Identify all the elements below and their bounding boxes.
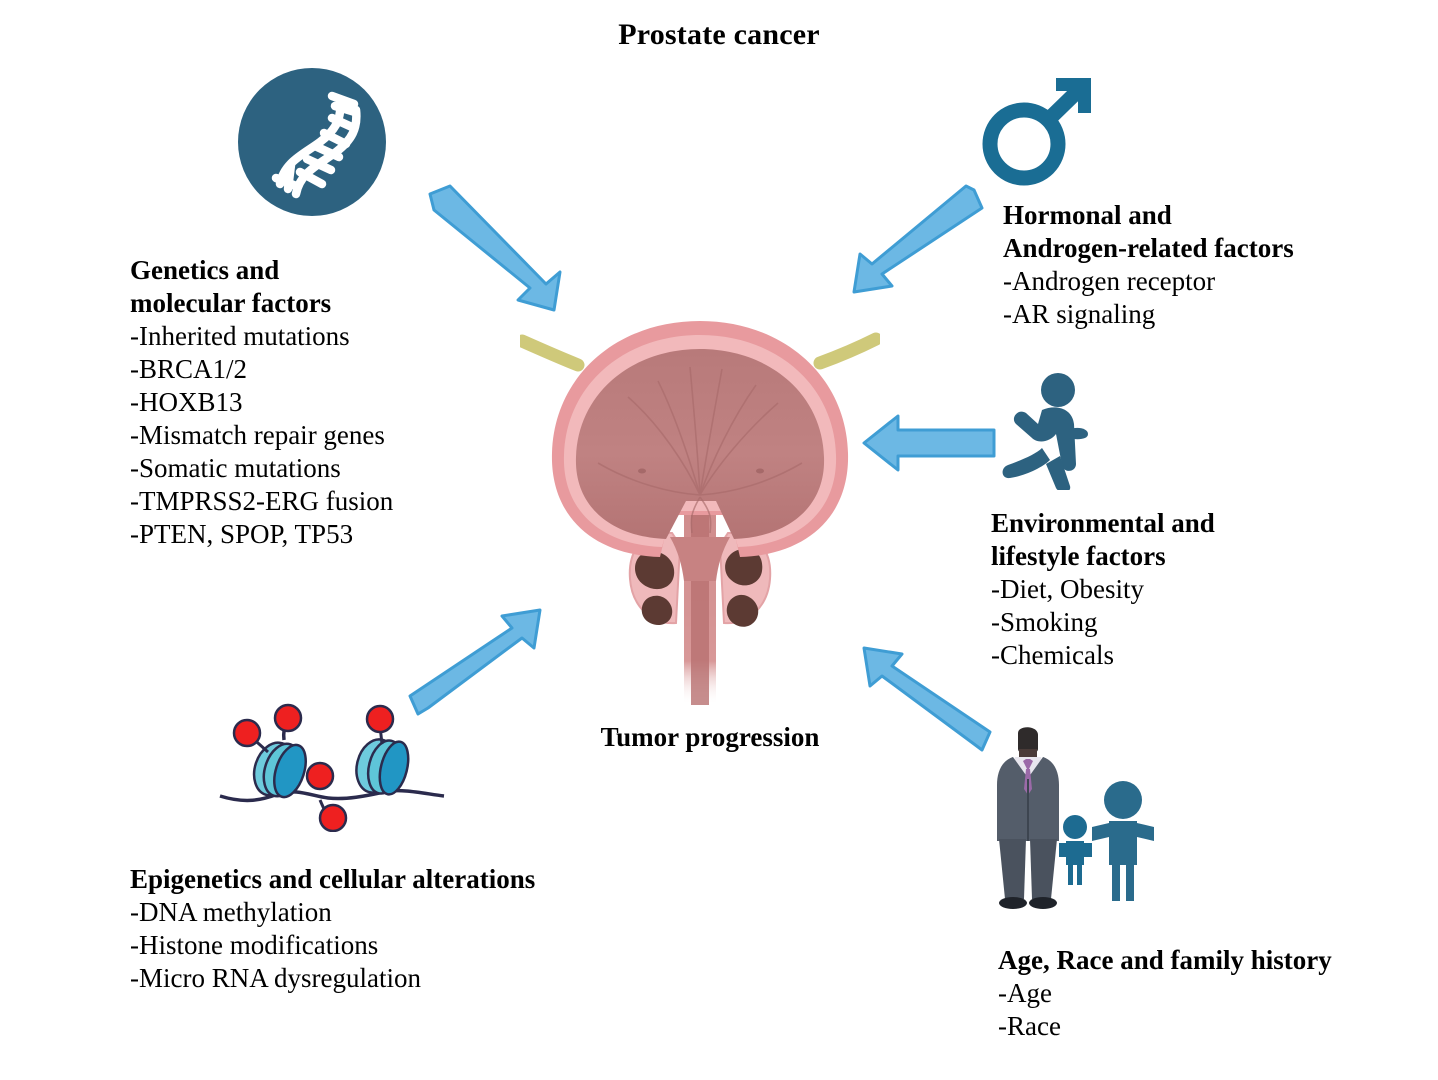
age-item-1: -Age	[998, 977, 1332, 1010]
nucleosome-right	[351, 735, 413, 797]
genetics-item-6: -TMPRSS2-ERG fusion	[130, 485, 393, 518]
factor-block-age-race-family: Age, Race and family history -Age -Race	[998, 944, 1332, 1043]
factor-block-hormonal: Hormonal and Androgen-related factors -A…	[1003, 199, 1294, 331]
center-label-tumor-progression: Tumor progression	[500, 722, 920, 753]
arrow-hormonal-to-center	[838, 182, 986, 300]
environmental-heading-line-2: lifestyle factors	[991, 540, 1215, 573]
age-item-2: -Race	[998, 1010, 1332, 1043]
environmental-item-1: -Diet, Obesity	[991, 573, 1215, 606]
man-in-suit	[997, 727, 1059, 909]
child-pictogram	[1059, 815, 1092, 885]
arrow-epigenetics-to-center	[408, 602, 554, 720]
epigenetics-item-2: -Histone modifications	[130, 929, 535, 962]
arrow-environmental-to-center	[858, 412, 998, 474]
epigenetics-item-1: -DNA methylation	[130, 896, 535, 929]
hormonal-item-2: -AR signaling	[1003, 298, 1294, 331]
genetics-item-4: -Mismatch repair genes	[130, 419, 393, 452]
genetics-item-5: -Somatic mutations	[130, 452, 393, 485]
epigenetics-item-3: -Micro RNA dysregulation	[130, 962, 535, 995]
factor-block-genetics: Genetics and molecular factors -Inherite…	[130, 254, 393, 550]
hormonal-heading-line-2: Androgen-related factors	[1003, 232, 1294, 265]
epigenetics-heading-line-1: Epigenetics and cellular alterations	[130, 863, 535, 896]
genetics-heading-line-1: Genetics and	[130, 254, 393, 287]
environmental-item-3: -Chemicals	[991, 639, 1215, 672]
male-gender-symbol-icon	[978, 72, 1100, 188]
genetics-item-3: -HOXB13	[130, 386, 393, 419]
page-title: Prostate cancer	[0, 18, 1438, 52]
family-group-icon	[993, 723, 1165, 915]
factor-block-epigenetics: Epigenetics and cellular alterations -DN…	[130, 863, 535, 995]
bladder-prostate-illustration	[520, 305, 880, 715]
environmental-heading-line-1: Environmental and	[991, 507, 1215, 540]
hormonal-item-1: -Androgen receptor	[1003, 265, 1294, 298]
arrow-genetics-to-center	[418, 184, 564, 314]
genetics-item-2: -BRCA1/2	[130, 353, 393, 386]
adult-pictogram	[1092, 781, 1154, 901]
hormonal-heading-line-1: Hormonal and	[1003, 199, 1294, 232]
diagram-canvas: Prostate cancer	[0, 0, 1438, 1080]
environmental-item-2: -Smoking	[991, 606, 1215, 639]
running-person-icon	[998, 368, 1112, 490]
genetics-item-7: -PTEN, SPOP, TP53	[130, 518, 393, 551]
genetics-heading-line-2: molecular factors	[130, 287, 393, 320]
genetics-item-1: -Inherited mutations	[130, 320, 393, 353]
age-heading-line-1: Age, Race and family history	[998, 944, 1332, 977]
factor-block-environmental: Environmental and lifestyle factors -Die…	[991, 507, 1215, 672]
dna-helix-icon	[236, 66, 388, 218]
